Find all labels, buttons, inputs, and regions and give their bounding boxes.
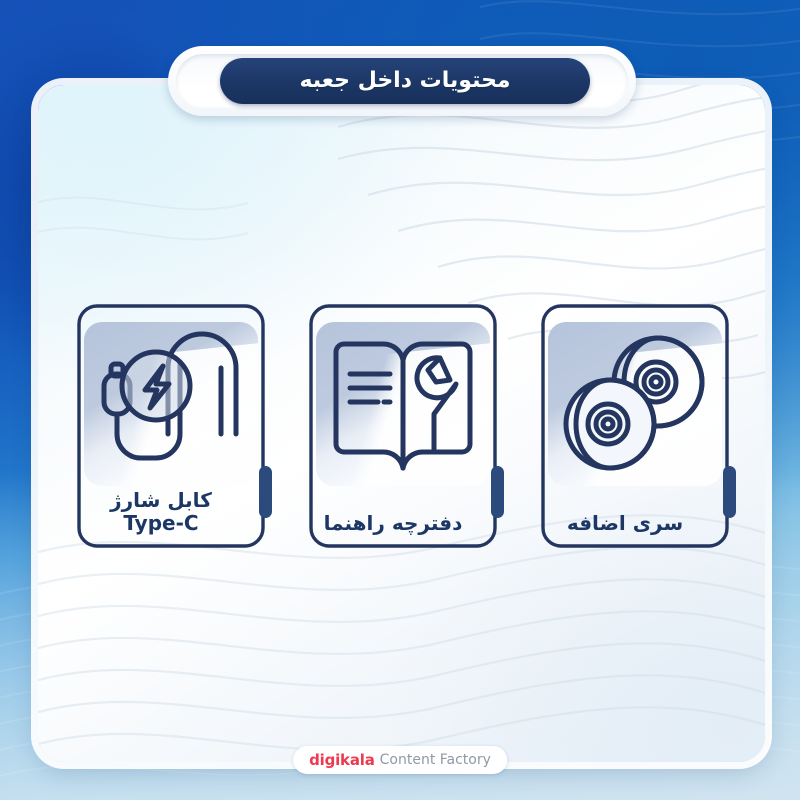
list-item-extra-eartips[interactable]: سری اضافه: [524, 300, 746, 552]
header-banner: محتویات داخل جعبه: [168, 46, 636, 116]
infographic-canvas: محتویات داخل جعبه: [0, 0, 800, 800]
footer-watermark: digikala Content Factory: [293, 746, 507, 774]
list-item-user-manual[interactable]: دفترچه راهنما: [292, 300, 514, 552]
card-label-line2: Type-C: [74, 512, 248, 536]
card-label: دفترچه راهنما: [306, 512, 480, 536]
header-title-pill: محتویات داخل جعبه: [220, 58, 590, 104]
card-label-line1: کابل شارژ: [74, 489, 248, 513]
card-label-line1: سری اضافه: [538, 512, 712, 536]
list-item-charging-cable[interactable]: کابل شارژ Type-C: [60, 300, 282, 552]
card-accent-bar: [723, 466, 736, 518]
digikala-logo-text: digikala: [309, 751, 375, 769]
card-icon-plate: [548, 322, 722, 486]
usb-c-charging-cable-icon: [84, 322, 258, 486]
card-icon-plate: [84, 322, 258, 486]
card-label-line1: دفترچه راهنما: [306, 512, 480, 536]
manual-book-wrench-icon: [316, 322, 490, 486]
content-factory-label: Content Factory: [380, 752, 491, 768]
card-accent-bar: [259, 466, 272, 518]
page-title: محتویات داخل جعبه: [299, 70, 510, 92]
extra-eartips-icon: [548, 322, 722, 486]
card-icon-plate: [316, 322, 490, 486]
card-label: سری اضافه: [538, 512, 712, 536]
card-label: کابل شارژ Type-C: [74, 489, 248, 536]
box-contents-list: کابل شارژ Type-C: [60, 300, 750, 560]
card-accent-bar: [491, 466, 504, 518]
